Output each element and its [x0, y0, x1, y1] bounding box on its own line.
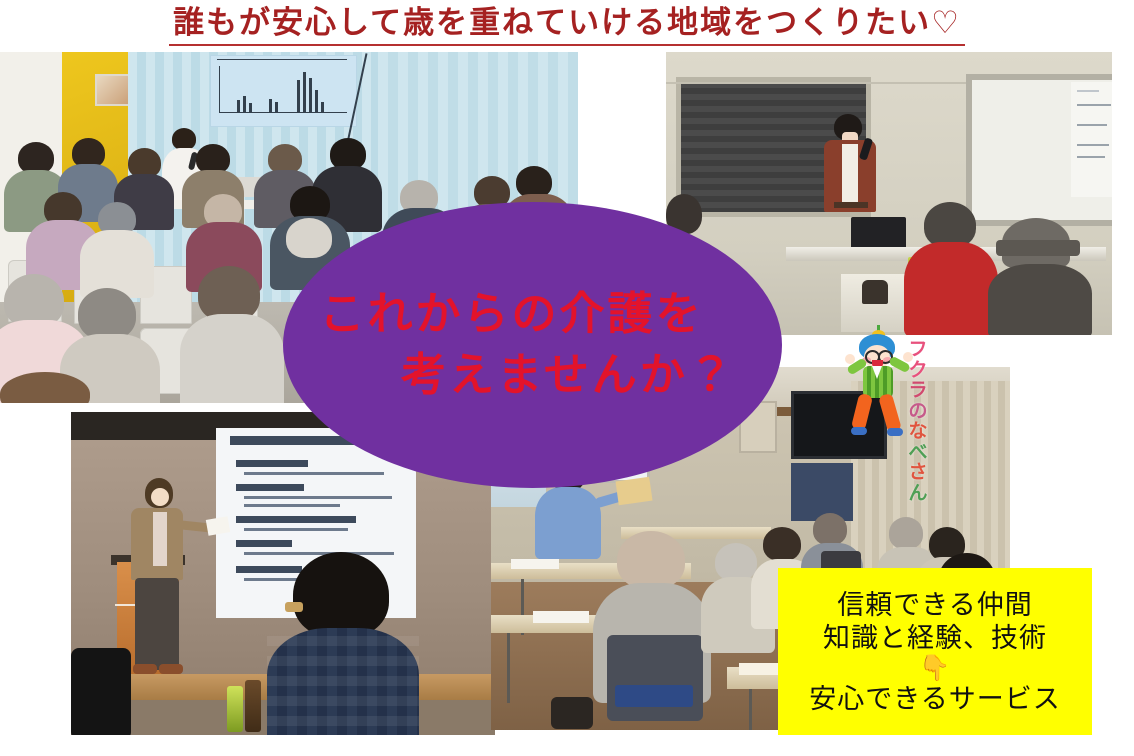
poster-title-band: 誰もが安心して歳を重ねていける地域をつくりたい♡ — [0, 2, 1134, 50]
mascot-name-char: ラ — [908, 381, 927, 402]
mascot-shoe-right — [887, 428, 903, 436]
mascot-hand-left — [845, 354, 855, 364]
message-box: 信頼できる仲間 知識と経験、技術 👇 安心できるサービス — [778, 568, 1092, 735]
mascot-name-char: ん — [908, 484, 927, 505]
message-line-1: 信頼できる仲間 — [837, 589, 1032, 622]
mascot-name-char: ク — [908, 361, 927, 382]
mascot-leg-left — [851, 393, 873, 431]
mascot-name-vertical: フ ク ラ の な べ さ ん — [905, 340, 931, 504]
callout-line-2: 考えませんか？ — [401, 345, 736, 406]
mascot-name-char: べ — [908, 443, 927, 464]
callout-line-1: これからの介護を — [319, 284, 703, 345]
mascot-name-char: さ — [908, 463, 927, 484]
message-line-2: 知識と経験、技術 — [823, 622, 1047, 655]
pointing-down-icon: 👇 — [919, 656, 950, 681]
callout-ellipse: これからの介護を 考えませんか？ — [283, 202, 782, 488]
mascot-shoe-left — [851, 427, 867, 435]
mascot-name-char: フ — [908, 340, 927, 361]
page-title: 誰もが安心して歳を重ねていける地域をつくりたい♡ — [169, 6, 965, 45]
mascot-name-char: な — [908, 422, 927, 443]
poster-canvas: 誰もが安心して歳を重ねていける地域をつくりたい♡ — [0, 0, 1134, 756]
mascot-name-char: の — [908, 402, 927, 423]
message-line-3: 安心できるサービス — [809, 683, 1060, 716]
